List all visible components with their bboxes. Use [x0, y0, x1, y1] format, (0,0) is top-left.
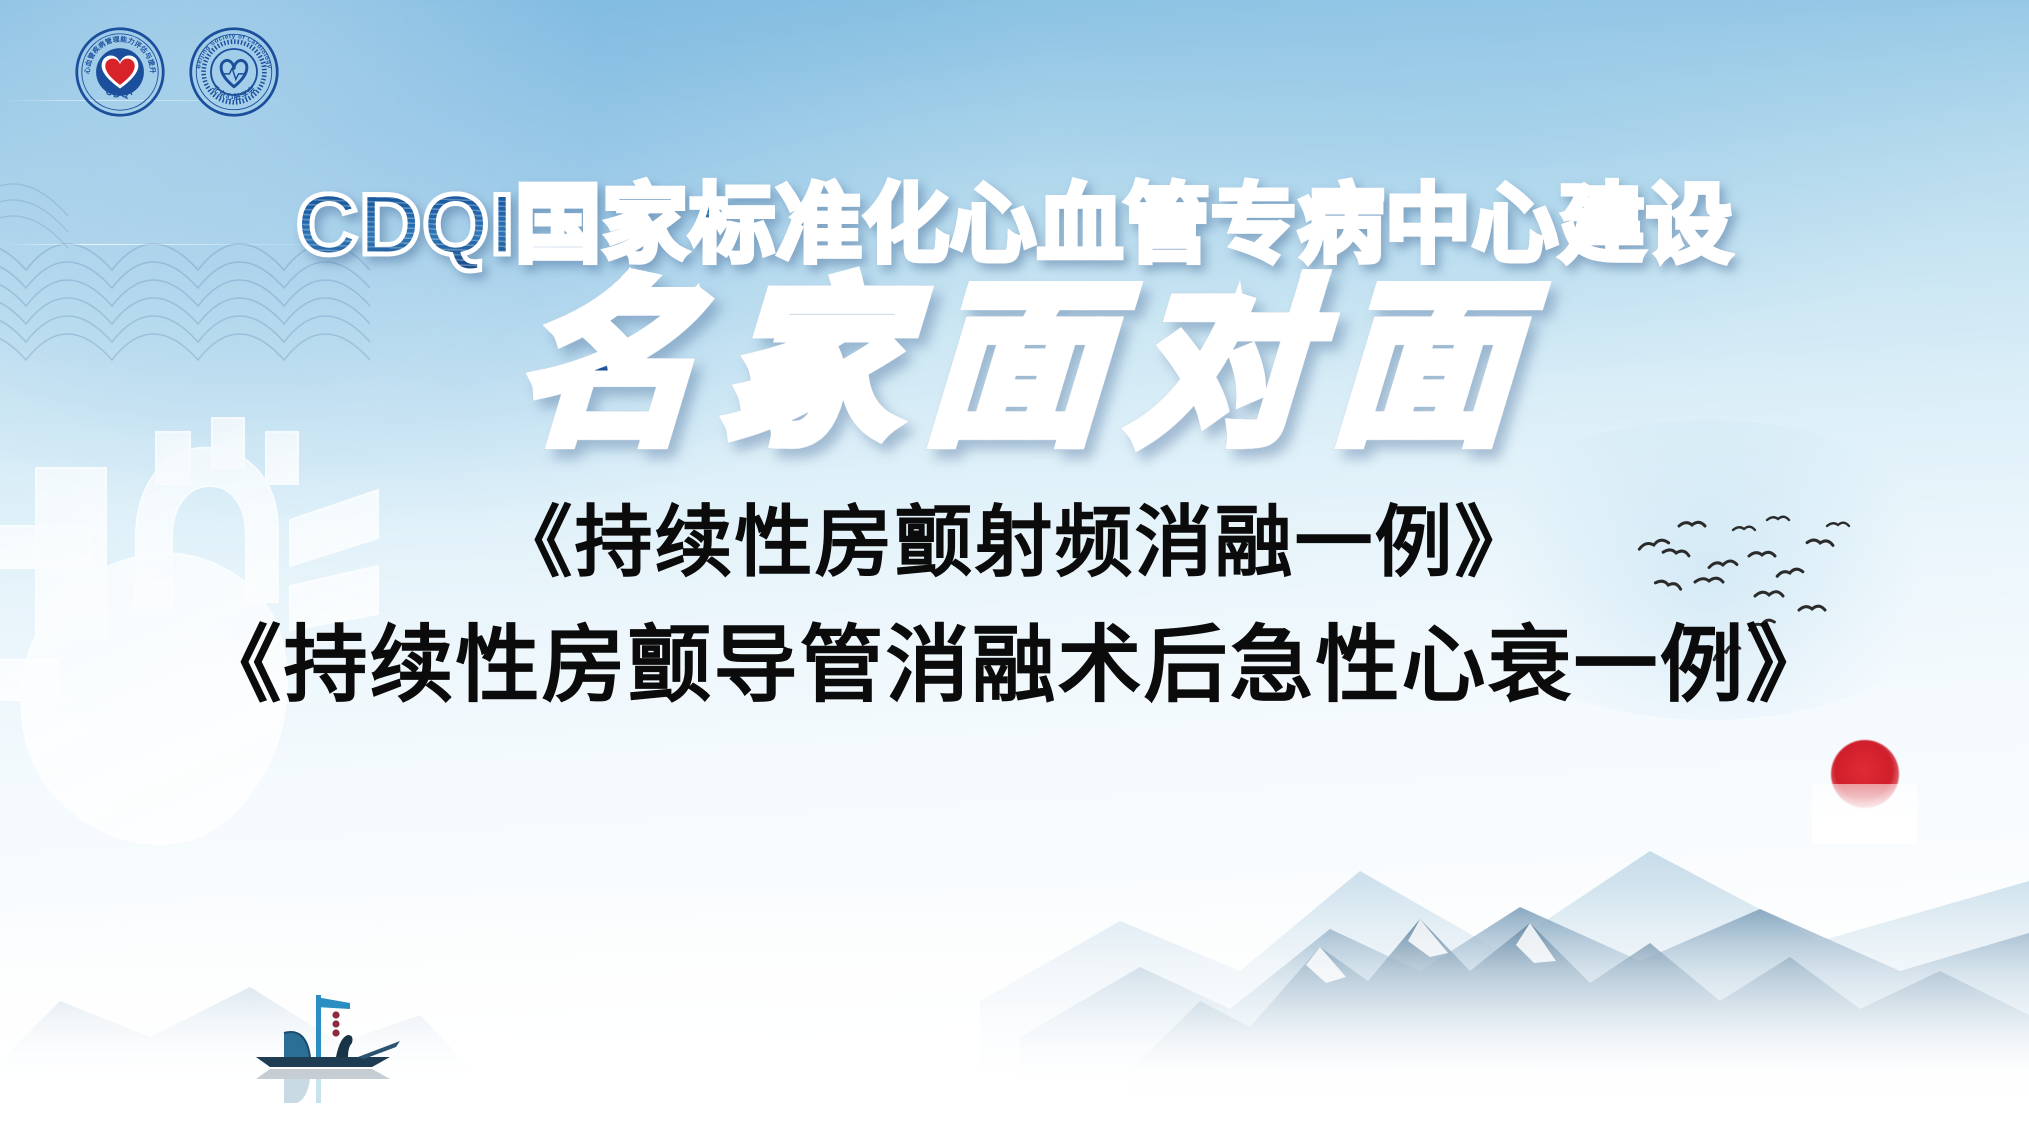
brush-calligraphy-title: 名家面对面: [487, 276, 1542, 454]
program-kicker: CDQI国家标准化心血管专病中心建设: [296, 182, 1733, 270]
headline-block: CDQI国家标准化心血管专病中心建设 名家面对面 《持续性房颤射频消融一例》 《…: [0, 0, 2029, 1141]
case-title-line-1: 《持续性房颤射频消融一例》: [494, 500, 1534, 584]
case-title-line-2: 《持续性房颤导管消融术后急性心衰一例》: [197, 620, 1831, 711]
presentation-poster: 全国心血管疾病管理能力评估与提升工程 CDQI · Beijing Societ…: [0, 0, 2029, 1141]
